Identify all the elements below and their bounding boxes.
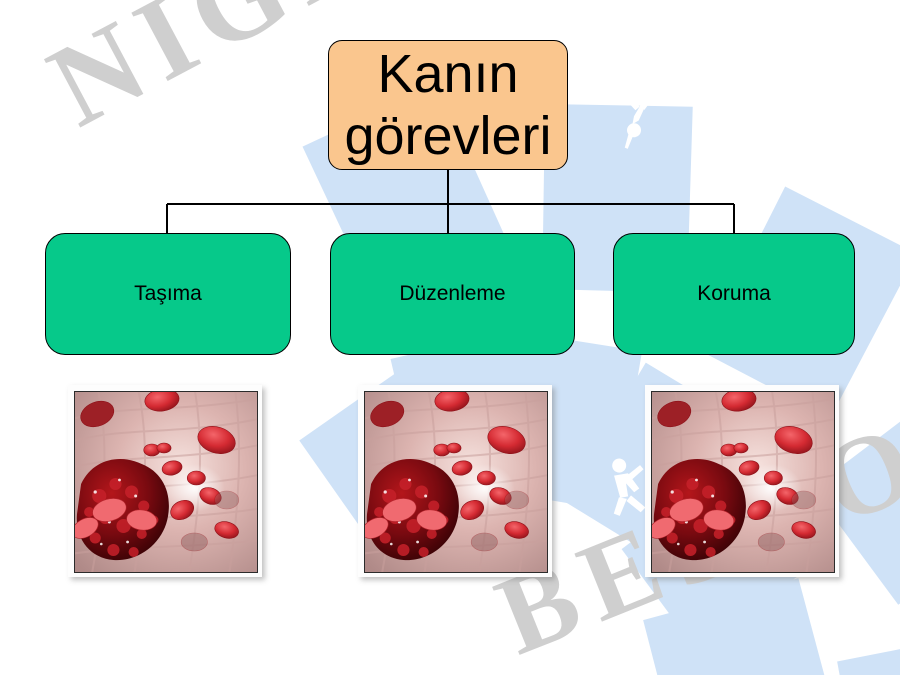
photo-inner — [364, 391, 548, 573]
node-duzenleme[interactable]: Düzenleme — [330, 233, 575, 355]
node-duzenleme-label: Düzenleme — [399, 282, 505, 306]
photo-inner — [651, 391, 835, 573]
node-koruma-label: Koruma — [697, 282, 771, 306]
blood-cells-photo-3[interactable] — [645, 385, 839, 577]
blood-cells-photo-2[interactable] — [358, 385, 552, 577]
node-tasima-label: Taşıma — [134, 282, 202, 306]
node-tasima[interactable]: Taşıma — [45, 233, 291, 355]
blood-cells-photo-1[interactable] — [68, 385, 262, 577]
node-koruma[interactable]: Koruma — [613, 233, 855, 355]
root-node-kanin-gorevleri[interactable]: Kanın görevleri — [328, 40, 568, 170]
slide-canvas: NİĞDE BESYO Kanın görevleri Taşıma Düzen… — [0, 0, 900, 675]
photo-inner — [74, 391, 258, 573]
root-node-label: Kanın görevleri — [329, 43, 567, 167]
